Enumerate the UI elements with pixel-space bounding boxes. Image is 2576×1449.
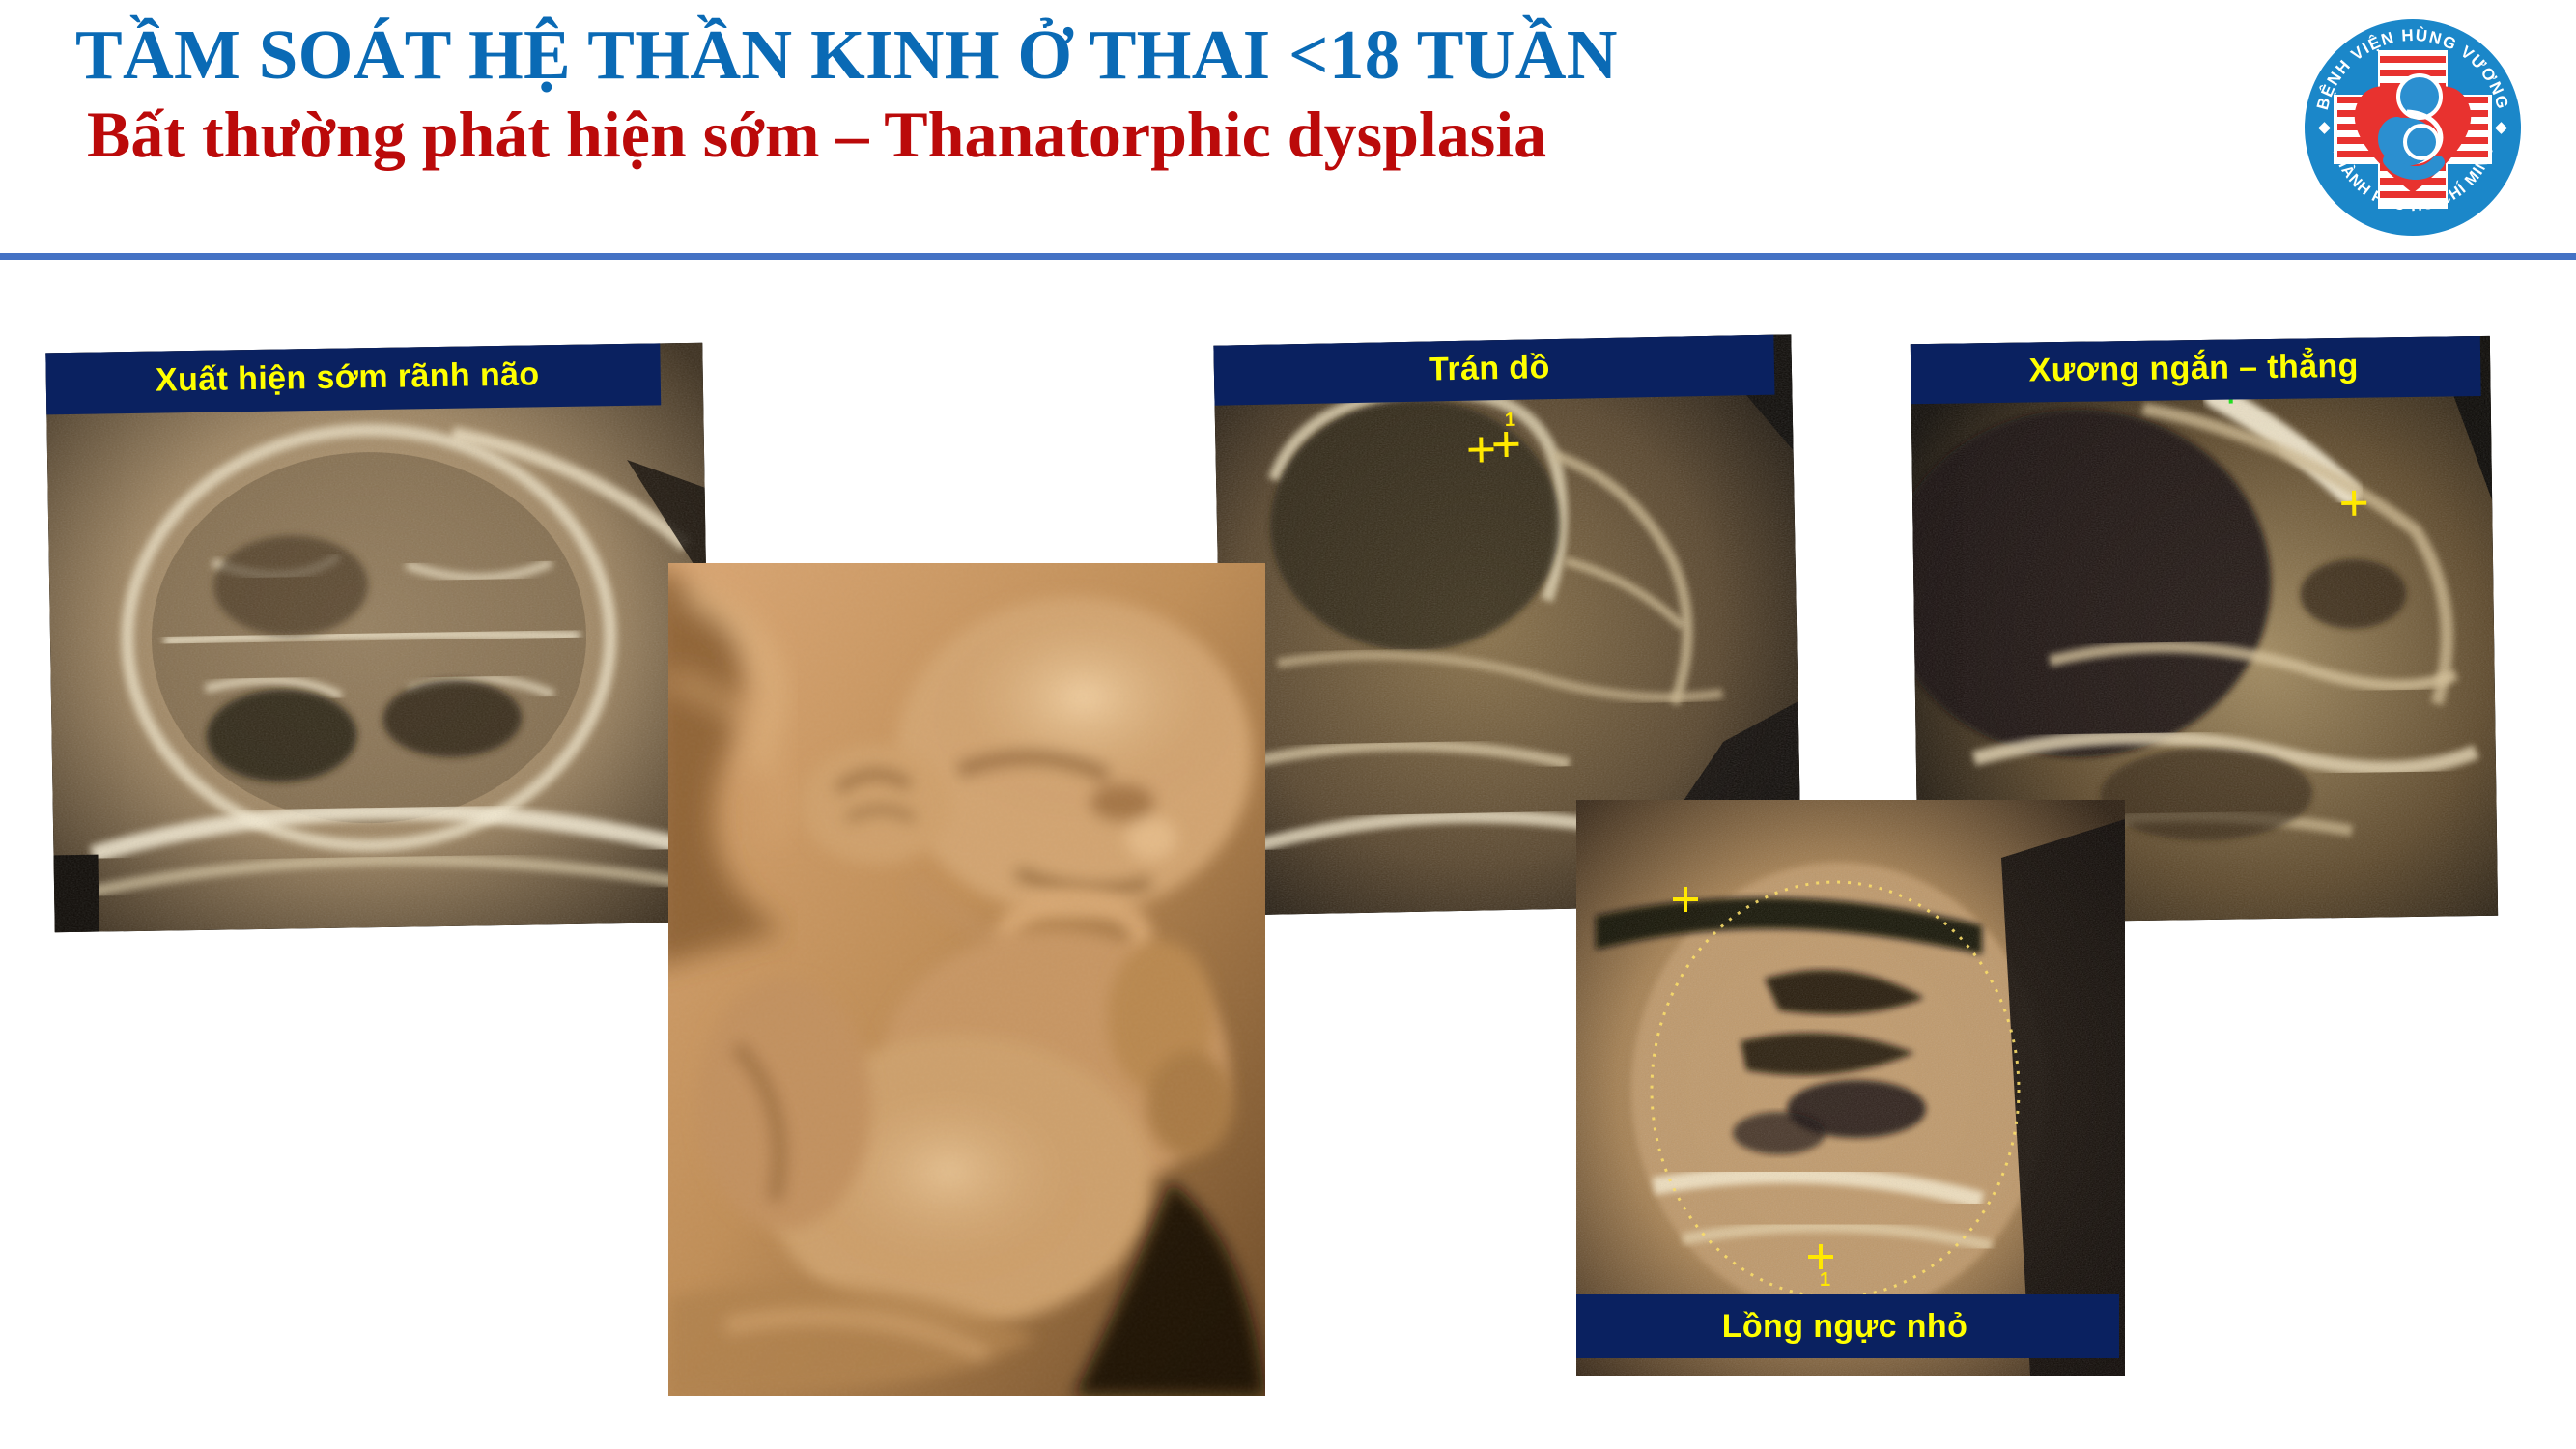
title-block: TẦM SOÁT HỆ THẦN KINH Ở THAI <18 TUẦN Bấ… xyxy=(0,17,2250,172)
caption-small-thorax: Lồng ngực nhỏ xyxy=(1576,1294,2119,1358)
ultrasound-image-brain xyxy=(45,343,711,933)
header-divider xyxy=(0,253,2576,260)
caliper-label-1: 1 xyxy=(1505,410,1516,432)
caption-short-straight-bone: Xương ngắn – thẳng xyxy=(1911,336,2481,404)
caption-frontal-bossing: Trán dồ xyxy=(1213,334,1774,406)
panel-brain-sulci[interactable]: Xuất hiện sớm rãnh não xyxy=(45,343,711,933)
caliper-label-thorax: 1 xyxy=(1820,1269,1830,1292)
caliper-crosshair-left xyxy=(1468,437,1493,462)
caliper-crosshair-thorax-bottom xyxy=(1808,1244,1833,1269)
slide-canvas: TẦM SOÁT HỆ THẦN KINH Ở THAI <18 TUẦN Bấ… xyxy=(0,0,2576,1449)
ultrasound-image-3d-face xyxy=(668,563,1265,1396)
hospital-logo: BỆNH VIỆN HÙNG VƯƠNG THÀNH PHỐ HỒ CHÍ MI… xyxy=(2301,15,2525,240)
caption-brain-sulci: Xuất hiện sớm rãnh não xyxy=(45,343,661,415)
caliper-crosshair-right xyxy=(1493,432,1518,457)
ultrasound-image-thorax xyxy=(1576,800,2125,1376)
caliper-crosshair-femur-distal xyxy=(2341,491,2366,516)
panel-small-thorax[interactable]: 1 Lồng ngực nhỏ xyxy=(1576,800,2125,1376)
caliper-crosshair-thorax-top xyxy=(1673,887,1698,912)
page-subtitle: Bất thường phát hiện sớm – Thanatorphic … xyxy=(75,98,2250,171)
panel-face-3d[interactable] xyxy=(668,563,1265,1396)
page-title: TẦM SOÁT HỆ THẦN KINH Ở THAI <18 TUẦN xyxy=(75,17,2250,92)
